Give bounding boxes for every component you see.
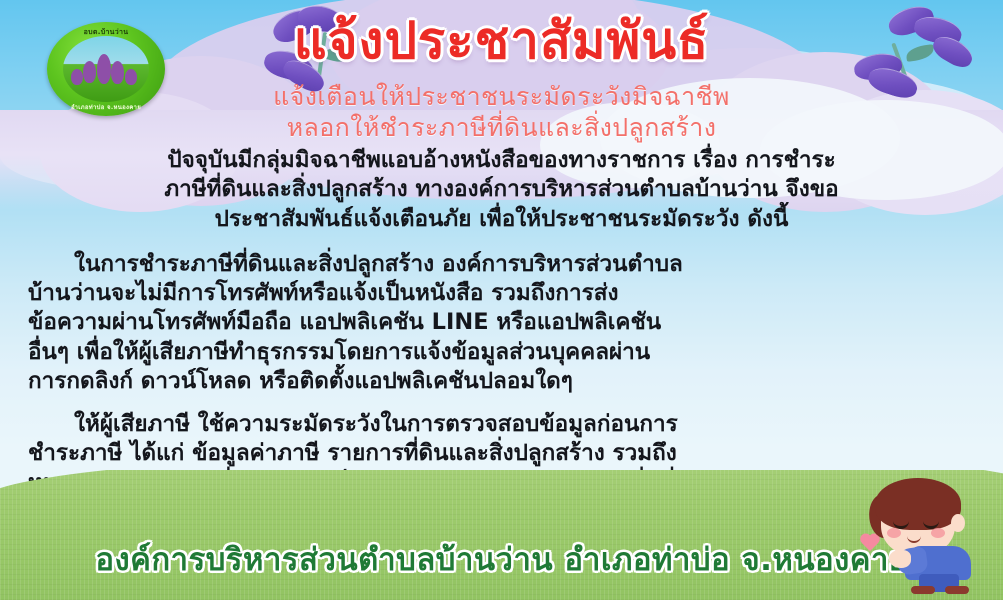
mascot-shoe-left [911, 586, 935, 594]
subtitle-line-1: แจ้งเตือนให้ประชาชนระมัดระวังมิจฉาชีพ [0, 82, 1003, 113]
intro-line-3: ประชาสัมพันธ์แจ้งเตือนภัย เพื่อให้ประชาช… [28, 205, 975, 234]
announcement-poster: อบต.บ้านว่าน อำเภอท่าบ่อ จ.หนองคาย แจ้งป… [0, 0, 1003, 600]
poster-subtitle: แจ้งเตือนให้ประชาชนระมัดระวังมิจฉาชีพ หล… [0, 82, 1003, 143]
paragraph-two: ในการชำระภาษีที่ดินและสิ่งปลูกสร้าง องค์… [28, 250, 975, 396]
boy-mascot-illustration [847, 474, 997, 592]
intro-line-1: ปัจจุบันมีกลุ่มมิจฉาชีพแอบอ้างหนังสือของ… [28, 146, 975, 175]
subtitle-line-2: หลอกให้ชำระภาษีที่ดินและสิ่งปลูกสร้าง [0, 113, 1003, 144]
intro-line-2: ภาษีที่ดินและสิ่งปลูกสร้าง ทางองค์การบริ… [28, 175, 975, 204]
mascot-cheek-left [887, 528, 901, 538]
para3-text-1: ให้ผู้เสียภาษี ใช้ความระมัดระวังในการตรว… [74, 411, 678, 437]
mascot-hands-wai [889, 550, 911, 568]
para2-line-2: บ้านว่านจะไม่มีการโทรศัพท์หรือแจ้งเป็นหน… [28, 279, 975, 308]
poster-title: แจ้งประชาสัมพันธ์ [0, 16, 1003, 67]
para2-line-4: อื่นๆ เพื่อให้ผู้เสียภาษีทำธุรกรรมโดยการ… [28, 338, 975, 367]
para2-line-1: ในการชำระภาษีที่ดินและสิ่งปลูกสร้าง องค์… [28, 250, 975, 279]
paragraph-intro: ปัจจุบันมีกลุ่มมิจฉาชีพแอบอ้างหนังสือของ… [28, 146, 975, 234]
para3-line-1: ให้ผู้เสียภาษี ใช้ความระมัดระวังในการตรว… [28, 410, 975, 439]
para2-line-3: ข้อความผ่านโทรศัพท์มือถือ แอปพลิเคชัน LI… [28, 308, 975, 337]
para2-text-1: ในการชำระภาษีที่ดินและสิ่งปลูกสร้าง องค์… [74, 251, 683, 277]
mascot-cheek-right [931, 528, 945, 538]
mascot-hair [875, 478, 961, 530]
mascot-shoe-right [945, 586, 969, 594]
para2-line-5: การกดลิงก์ ดาวน์โหลด หรือติดตั้งแอปพลิเค… [28, 367, 975, 396]
heart-icon [859, 534, 881, 556]
para3-line-2: ชำระภาษี ได้แก่ ข้อมูลค่าภาษี รายการที่ด… [28, 439, 975, 468]
mascot-ear [951, 514, 965, 532]
